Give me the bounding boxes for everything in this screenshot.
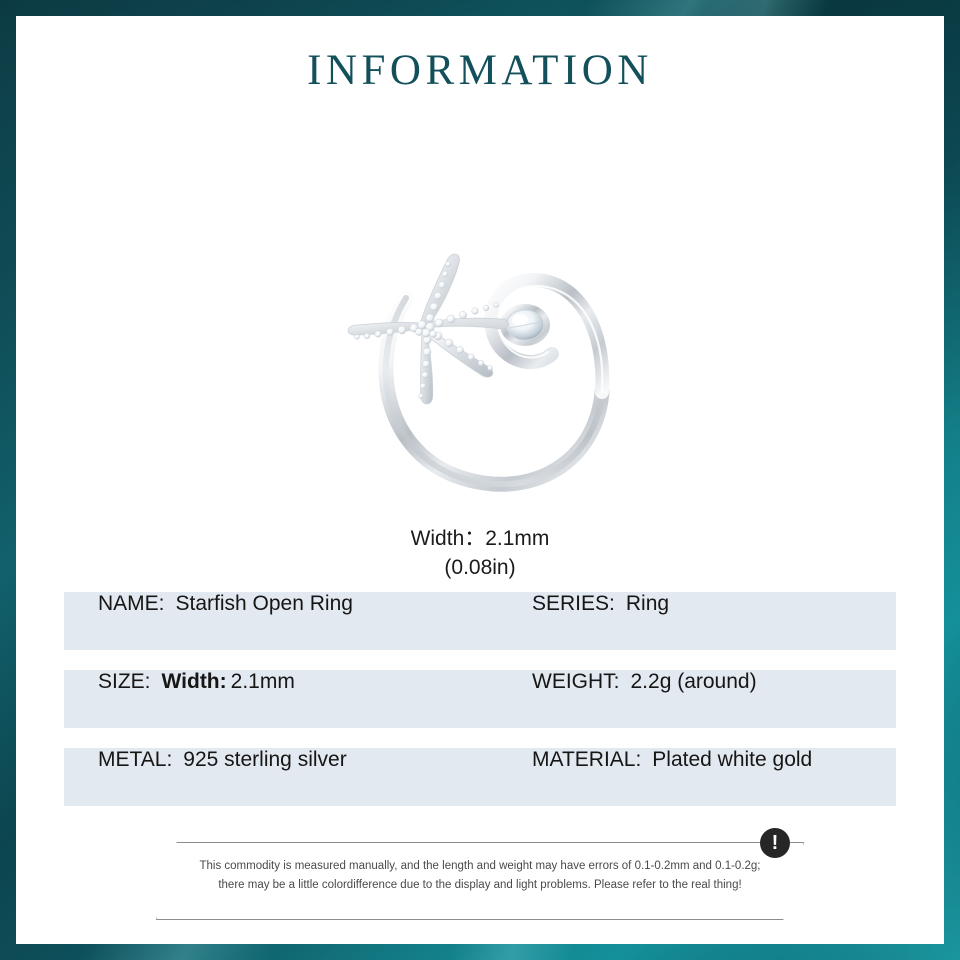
- product-photo-starfish-open-ring: [310, 178, 650, 508]
- spec-key-weight: WEIGHT:: [532, 670, 620, 694]
- dimension-width-inches: (0.08in): [16, 553, 944, 582]
- table-row: SIZE: Width: 2.1mm WEIGHT: 2.2g (around): [64, 670, 896, 728]
- spec-cell-weight: WEIGHT: 2.2g (around): [516, 670, 896, 728]
- information-card: INFORMATION: [16, 16, 944, 944]
- spec-key-series: SERIES:: [532, 592, 615, 616]
- exclamation-badge-icon: !: [760, 828, 790, 858]
- spec-value-weight: 2.2g (around): [631, 670, 757, 694]
- spec-cell-name: NAME: Starfish Open Ring: [64, 592, 516, 650]
- table-row: METAL: 925 sterling silver MATERIAL: Pla…: [64, 748, 896, 806]
- exclamation-glyph: !: [772, 833, 779, 853]
- dimension-caption: Width：2.1mm (0.08in): [16, 524, 944, 582]
- spec-key-metal: METAL:: [98, 748, 172, 772]
- spec-cell-series: SERIES: Ring: [516, 592, 896, 650]
- dimension-width: Width：2.1mm: [16, 524, 944, 553]
- disclaimer-line-2: there may be a little colordifference du…: [156, 876, 804, 895]
- spec-key-material: MATERIAL:: [532, 748, 641, 772]
- spec-cell-material: MATERIAL: Plated white gold: [516, 748, 896, 806]
- spec-cell-metal: METAL: 925 sterling silver: [64, 748, 516, 806]
- spec-value-material: Plated white gold: [652, 748, 812, 772]
- page-title: INFORMATION: [16, 46, 944, 95]
- spec-value-metal: 925 sterling silver: [183, 748, 346, 772]
- spec-value-size: 2.1mm: [231, 670, 295, 694]
- disclaimer-banner: This commodity is measured manually, and…: [156, 842, 804, 920]
- disclaimer-line-1: This commodity is measured manually, and…: [156, 857, 804, 876]
- spec-key-size: SIZE:: [98, 670, 151, 694]
- spec-cell-size: SIZE: Width: 2.1mm: [64, 670, 516, 728]
- spec-value-series: Ring: [626, 592, 669, 616]
- spec-value-name: Starfish Open Ring: [176, 592, 353, 616]
- teal-marble-frame: INFORMATION: [0, 0, 960, 960]
- specifications-table: NAME: Starfish Open Ring SERIES: Ring SI…: [64, 592, 896, 826]
- table-row: NAME: Starfish Open Ring SERIES: Ring: [64, 592, 896, 650]
- disclaimer-text: This commodity is measured manually, and…: [156, 857, 804, 895]
- spec-key-name: NAME:: [98, 592, 165, 616]
- spec-value-size-label: Width:: [162, 670, 227, 694]
